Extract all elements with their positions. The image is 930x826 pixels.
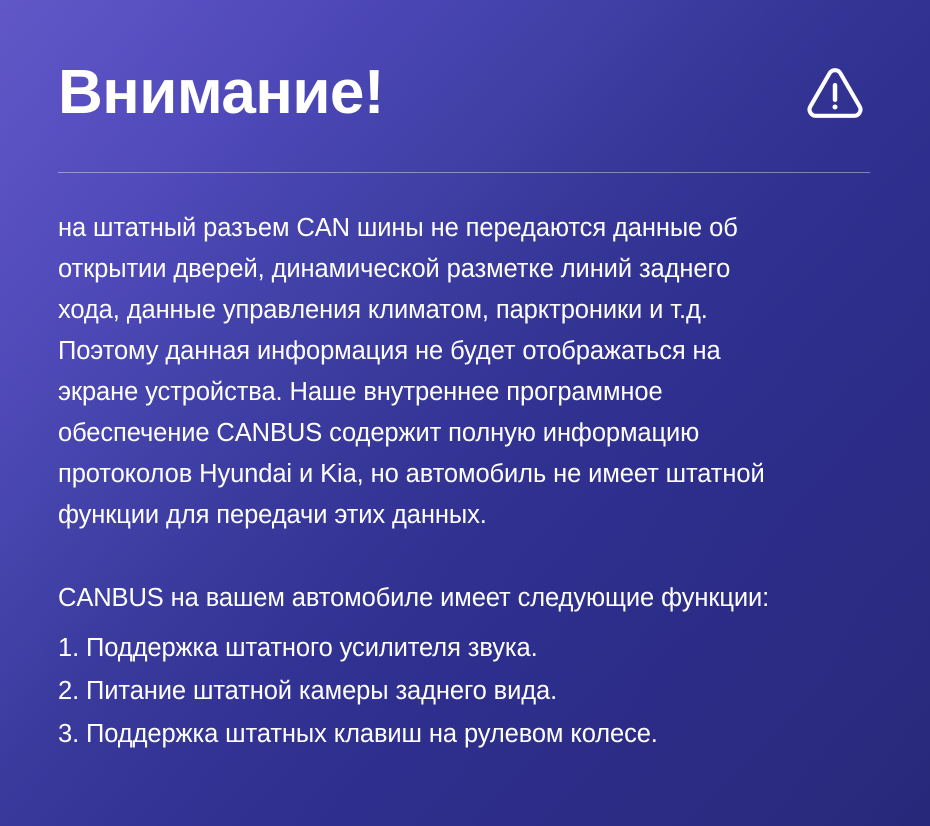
warning-body: на штатный разъем CAN шины не передаются…	[58, 178, 872, 756]
functions-block: CANBUS на вашем автомобиле имеет следующ…	[58, 578, 872, 756]
paragraph-line: Поэтому данная информация не будет отобр…	[58, 331, 872, 372]
warning-triangle-icon	[804, 61, 866, 123]
paragraph-line: хода, данные управления климатом, парктр…	[58, 290, 872, 331]
list-item: 1. Поддержка штатного усилителя звука.	[58, 627, 872, 670]
paragraph-line: протоколов Hyundai и Kia, но автомобиль …	[58, 454, 872, 495]
paragraph-line: экране устройства. Наше внутреннее прогр…	[58, 372, 872, 413]
paragraph-line: обеспечение CANBUS содержит полную инфор…	[58, 413, 872, 454]
banner-header: Внимание!	[58, 0, 872, 178]
functions-list: 1. Поддержка штатного усилителя звука. 2…	[58, 627, 872, 756]
list-item: 3. Поддержка штатных клавиш на рулевом к…	[58, 713, 872, 756]
paragraph-line: функции для передачи этих данных.	[58, 495, 872, 536]
list-item: 2. Питание штатной камеры заднего вида.	[58, 670, 872, 713]
header-divider	[58, 172, 870, 173]
warning-banner: Внимание! на штатный разъем CAN шины не …	[0, 0, 930, 826]
functions-intro: CANBUS на вашем автомобиле имеет следующ…	[58, 578, 872, 619]
warning-paragraph: на штатный разъем CAN шины не передаются…	[58, 208, 872, 536]
paragraph-line: на штатный разъем CAN шины не передаются…	[58, 208, 872, 249]
page-title: Внимание!	[58, 54, 384, 124]
banner-content: Внимание! на штатный разъем CAN шины не …	[0, 0, 930, 826]
paragraph-line: открытии дверей, динамической разметке л…	[58, 249, 872, 290]
